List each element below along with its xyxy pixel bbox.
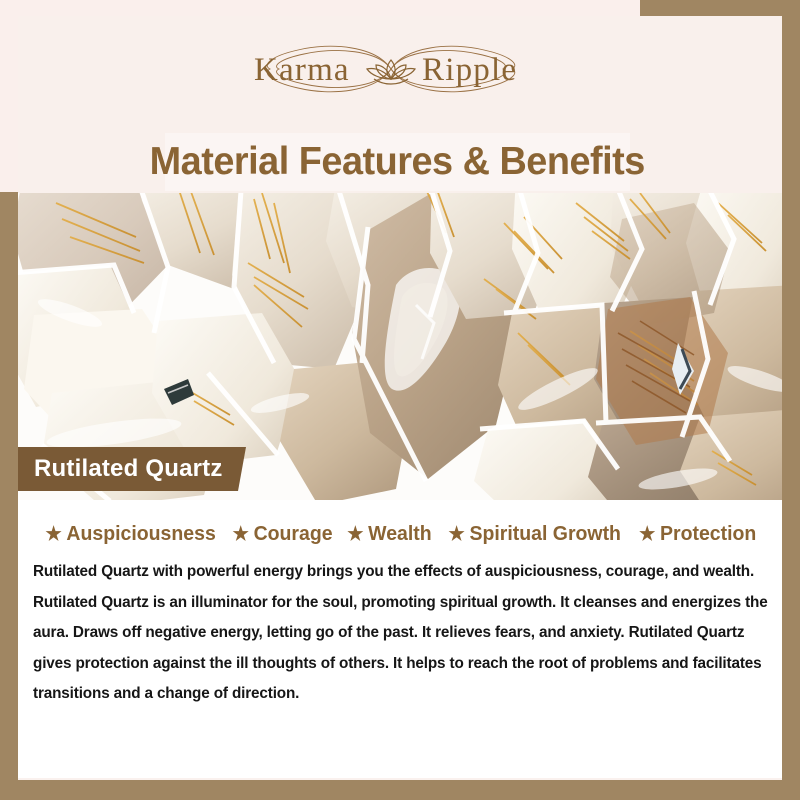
benefit-item-4: ★ Protection bbox=[639, 522, 756, 546]
brand-logo: Karma Ripple bbox=[0, 36, 782, 102]
benefit-label: Auspiciousness bbox=[66, 522, 215, 546]
material-name-label: Rutilated Quartz bbox=[18, 455, 223, 483]
header-section: Karma Ripple Material Features & Benefit… bbox=[0, 0, 782, 196]
lotus-icon bbox=[367, 60, 415, 84]
frame-border-left bbox=[0, 190, 18, 800]
benefit-item-3: ★ Spiritual Growth bbox=[449, 522, 621, 546]
frame-top-left-gap bbox=[0, 0, 640, 16]
logo-artwork: Karma Ripple bbox=[226, 38, 556, 100]
benefit-label: Wealth bbox=[368, 522, 431, 546]
benefit-item-2: ★ Wealth bbox=[348, 522, 432, 546]
star-icon: ★ bbox=[639, 525, 655, 544]
frame-border-bottom bbox=[0, 780, 800, 800]
page-title: Material Features & Benefits bbox=[150, 140, 645, 184]
star-icon: ★ bbox=[45, 525, 61, 544]
description-paragraph: Rutilated Quartz with powerful energy br… bbox=[33, 557, 773, 710]
star-icon: ★ bbox=[233, 525, 249, 544]
frame-left-top-gap bbox=[0, 0, 18, 192]
benefit-label: Spiritual Growth bbox=[470, 522, 621, 546]
page-title-band: Material Features & Benefits bbox=[165, 133, 630, 191]
benefit-label: Courage bbox=[254, 522, 333, 546]
product-info-card: Karma Ripple Material Features & Benefit… bbox=[0, 0, 800, 800]
star-icon: ★ bbox=[449, 525, 465, 544]
brand-word-right: Ripple bbox=[422, 52, 517, 88]
benefits-list: ★ Auspiciousness ★ Courage ★ Wealth ★ Sp… bbox=[18, 522, 782, 546]
benefit-item-1: ★ Courage bbox=[233, 522, 333, 546]
benefit-item-0: ★ Auspiciousness bbox=[45, 522, 215, 546]
brand-word-left: Karma bbox=[254, 52, 350, 88]
frame-border-right bbox=[782, 0, 800, 800]
content-panel: ★ Auspiciousness ★ Courage ★ Wealth ★ Sp… bbox=[18, 500, 782, 780]
material-name-banner: Rutilated Quartz bbox=[18, 447, 246, 491]
benefit-label: Protection bbox=[660, 522, 756, 546]
star-icon: ★ bbox=[348, 525, 364, 544]
